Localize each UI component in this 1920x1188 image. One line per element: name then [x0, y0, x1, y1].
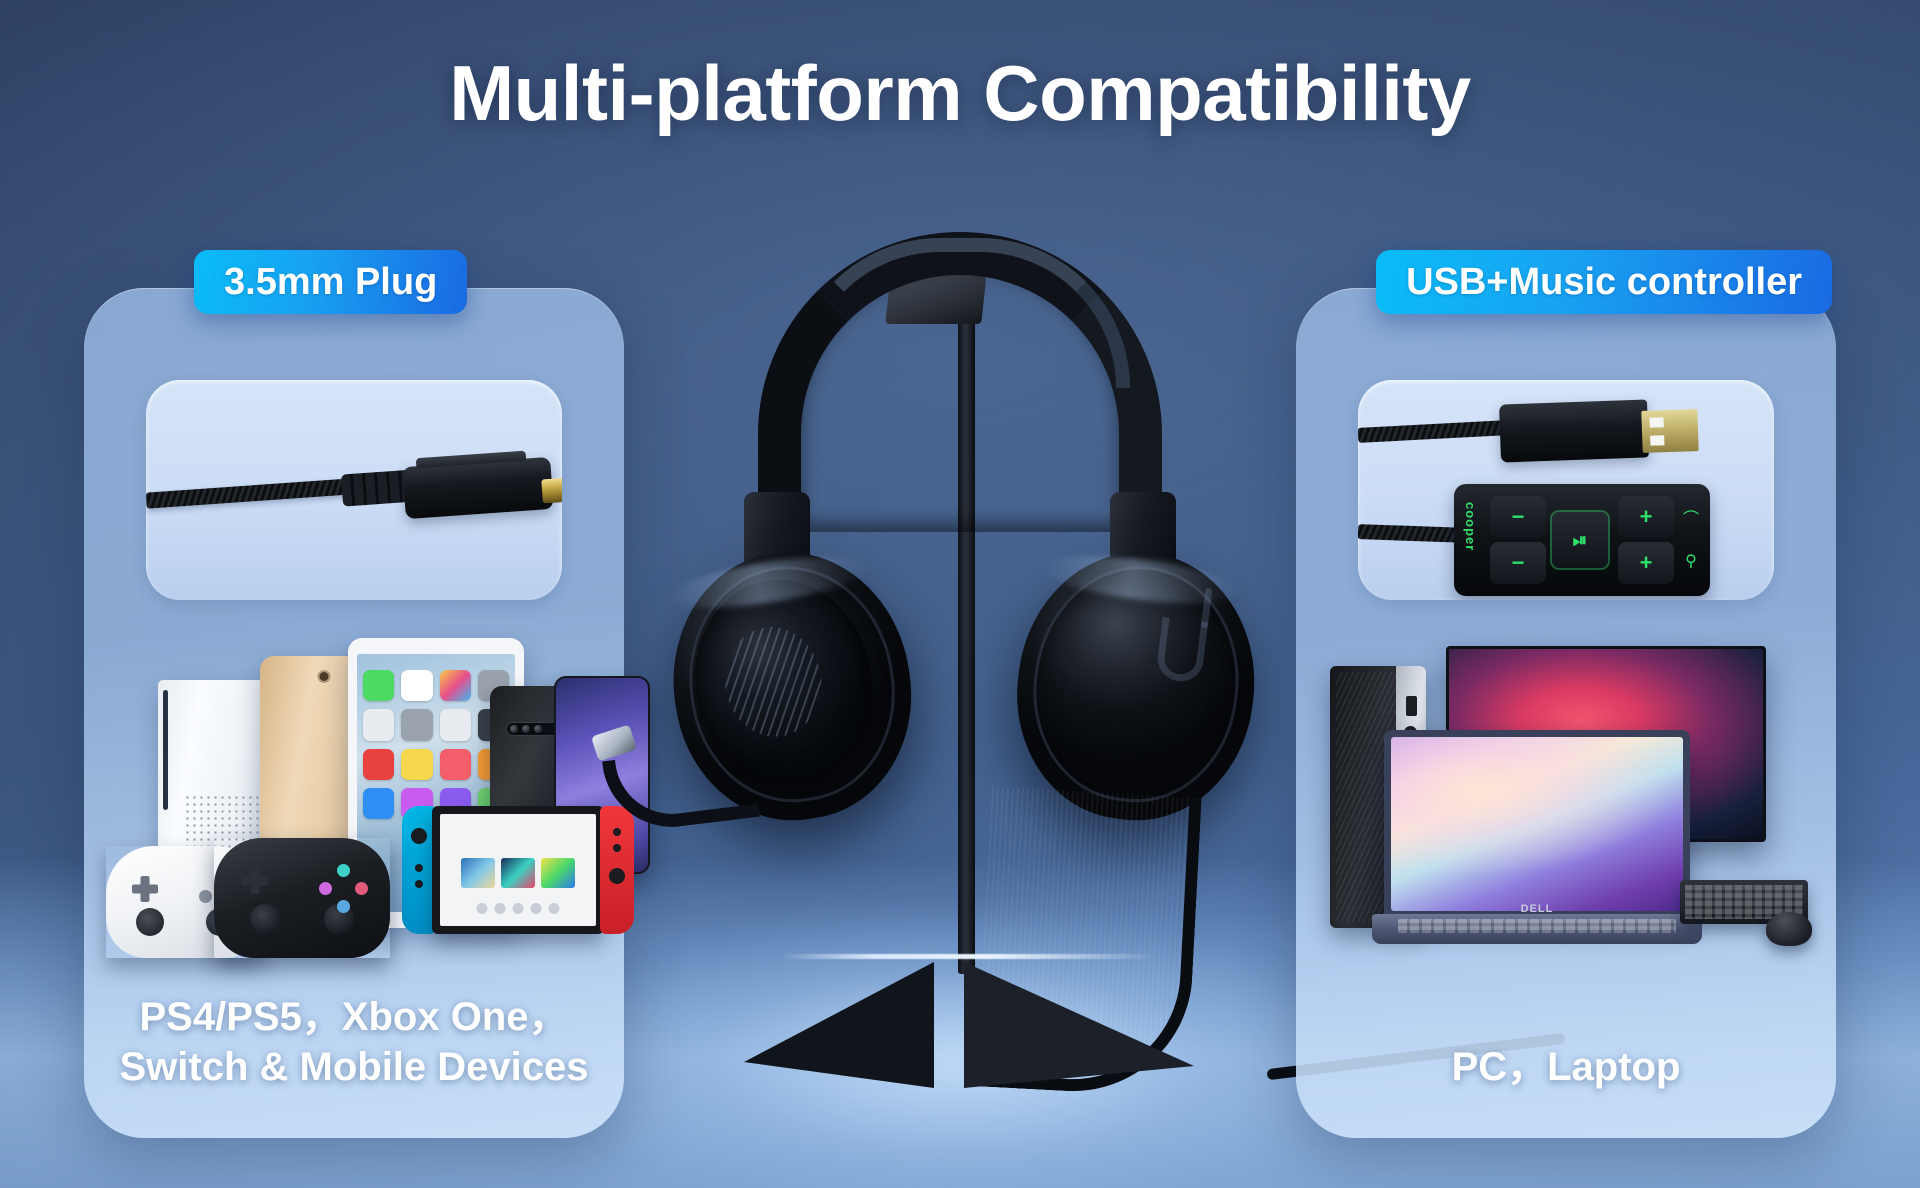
switch-dock-row: [477, 903, 560, 914]
face-button-triangle: [337, 864, 350, 877]
right-compatibility-card: USB+Music controller cooper − − ⏯ + + ⌒ …: [1296, 288, 1836, 1138]
face-button-cross: [337, 900, 350, 913]
right-caption-line-1: PC，Laptop: [1320, 1042, 1812, 1092]
badge-usb-music-controller: USB+Music controller: [1376, 250, 1832, 314]
nintendo-switch: [402, 806, 634, 934]
face-button-circle: [355, 882, 368, 895]
usb-controller-image-panel: cooper − − ⏯ + + ⌒ ⚲: [1358, 380, 1774, 600]
controller-brand-logo: cooper: [1463, 502, 1478, 551]
right-caption: PC，Laptop: [1320, 1042, 1812, 1092]
tower-card-slot: [1406, 696, 1417, 716]
usb-braided-cable-lower: [1358, 524, 1468, 543]
dock-icon: [549, 903, 560, 914]
game-tile: [461, 858, 495, 888]
left-device-cluster: [102, 638, 606, 968]
left-caption-line-1: PS4/PS5，Xbox One，: [108, 992, 600, 1042]
switch-console: [432, 806, 604, 934]
ipad-app-grid: [363, 670, 509, 819]
app-icon-photos: [440, 670, 471, 701]
inline-music-controller: cooper − − ⏯ + + ⌒ ⚲: [1454, 484, 1710, 596]
app-icon-videos: [440, 709, 471, 740]
app-icon-notes: [401, 749, 432, 780]
joycon-left: [402, 806, 436, 934]
dell-laptop: DELL: [1372, 730, 1702, 944]
game-tile: [541, 858, 575, 888]
base-facet-right: [964, 962, 1194, 1088]
play-pause-button[interactable]: ⏯: [1550, 510, 1610, 570]
volume-up-button-top[interactable]: +: [1618, 496, 1674, 538]
product-infographic: Multi-platform Compatibility 3.5mm Plug: [0, 0, 1920, 1188]
base-facet-left: [744, 962, 934, 1088]
volume-down-button-top[interactable]: −: [1490, 496, 1546, 538]
controller-shell: [214, 838, 390, 958]
headband-highlight: [790, 238, 1130, 388]
headset-stand-base: [744, 938, 1194, 1088]
face-button-square: [319, 882, 332, 895]
app-icon-news: [363, 749, 394, 780]
game-tile: [501, 858, 535, 888]
right-device-cluster: DELL: [1314, 638, 1818, 968]
left-stick: [136, 908, 164, 936]
usb-braided-cable-upper: [1358, 420, 1508, 443]
headset-product-shot: [640, 232, 1280, 1132]
headphone-jack-icon: ⌒: [1680, 506, 1702, 528]
app-icon-contacts: [363, 709, 394, 740]
laptop-base: [1372, 914, 1702, 944]
switch-screen: [440, 814, 596, 926]
dock-icon: [477, 903, 488, 914]
left-stick: [250, 904, 280, 934]
page-title: Multi-platform Compatibility: [0, 48, 1920, 139]
left-caption: PS4/PS5，Xbox One， Switch & Mobile Device…: [108, 992, 600, 1092]
dock-icon: [531, 903, 542, 914]
plug-illustration: [146, 380, 562, 600]
app-icon-music: [440, 749, 471, 780]
base-edge-highlight: [780, 954, 1158, 959]
wireless-mouse: [1766, 912, 1812, 946]
microphone-jack-icon: ⚲: [1680, 550, 1702, 572]
usb-connector-housing: [1499, 399, 1649, 462]
playstation-4-dualshock-controller: [214, 838, 390, 958]
left-compatibility-card: 3.5mm Plug: [84, 288, 624, 1138]
face-button-square: [199, 890, 212, 903]
dock-icon: [495, 903, 506, 914]
app-icon-facetime: [363, 670, 394, 701]
laptop-lid: DELL: [1384, 730, 1690, 918]
laptop-keyboard: [1398, 919, 1676, 933]
switch-game-tiles: [461, 858, 575, 888]
volume-down-button-bottom[interactable]: −: [1490, 542, 1546, 584]
dpad: [242, 868, 268, 894]
dock-icon: [513, 903, 524, 914]
plug-image-panel: [146, 380, 562, 600]
laptop-screen: [1391, 737, 1683, 911]
app-icon-appstore: [363, 788, 394, 819]
plug-housing: [402, 457, 553, 519]
app-icon-settings: [401, 709, 432, 740]
left-caption-line-2: Switch & Mobile Devices: [108, 1042, 600, 1092]
dpad: [132, 876, 158, 902]
usb-connector-contact: [1641, 409, 1698, 453]
app-icon-calendar: [401, 670, 432, 701]
joycon-right: [600, 806, 634, 934]
badge-3-5mm-plug: 3.5mm Plug: [194, 250, 467, 314]
volume-up-button-bottom[interactable]: +: [1618, 542, 1674, 584]
